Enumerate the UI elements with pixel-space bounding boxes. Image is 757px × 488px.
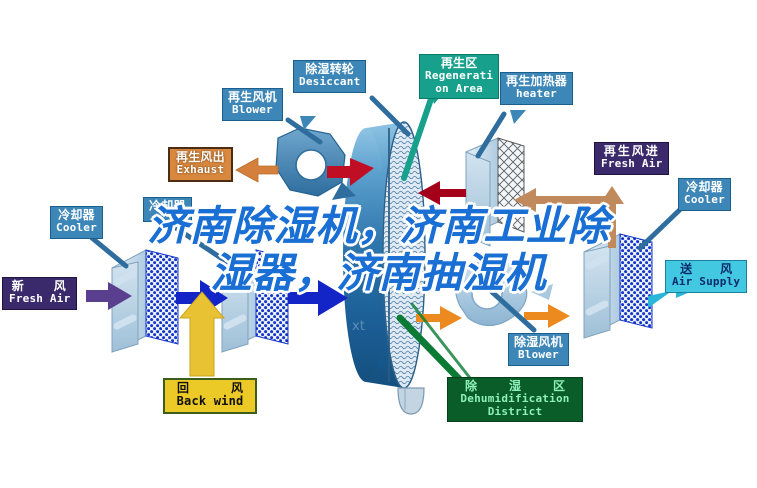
label-dehumid-blower-cn: 除湿风机: [514, 336, 563, 349]
label-dehumid-blower: 除湿风机 Blower: [508, 333, 569, 366]
label-desiccant-wheel-en: Desiccant: [299, 76, 360, 88]
label-cooler-right-en: Cooler: [684, 194, 725, 206]
label-cooler-left-outer-cn: 冷却器: [56, 209, 97, 222]
label-regen-fresh-air: 再生风进 Fresh Air: [594, 142, 669, 175]
label-regeneration-area-en-2: on Area: [425, 83, 493, 95]
label-back-wind-cn: 回 风: [171, 382, 249, 395]
heater-coil: [466, 138, 524, 246]
label-dehumid-district-en-2: District: [455, 406, 575, 418]
label-cooler-right-cn: 冷却器: [684, 181, 725, 194]
label-regen-blower: 再生风机 Blower: [222, 88, 283, 121]
process-arrow: [288, 280, 348, 316]
label-regen-exhaust-en: Exhaust: [176, 164, 225, 176]
label-cooler-left-outer: 冷却器 Cooler: [50, 206, 103, 239]
label-cooler-left-inner: 冷却器: [143, 197, 192, 222]
label-back-wind: 回 风 Back wind: [163, 378, 257, 414]
label-regen-heater-cn: 再生加热器: [506, 75, 567, 88]
label-fresh-air-inlet: 新 风 Fresh Air: [2, 277, 77, 310]
svg-text:xt: xt: [352, 319, 365, 334]
label-cooler-left-outer-en: Cooler: [56, 222, 97, 234]
label-regeneration-area-cn: 再生区: [425, 57, 493, 70]
label-fresh-air-inlet-en: Fresh Air: [9, 293, 70, 305]
regen-wheel-arrow: [418, 181, 466, 205]
label-regen-blower-en: Blower: [228, 104, 277, 116]
diagram-artwork: xt: [0, 0, 757, 488]
label-regen-fresh-air-en: Fresh Air: [601, 158, 662, 170]
label-dehumid-blower-en: Blower: [514, 349, 563, 361]
drain-pan: [398, 388, 424, 414]
label-regen-fresh-air-cn: 再生风进: [601, 145, 662, 158]
label-regen-heater-en: heater: [506, 88, 567, 100]
label-cooler-left-inner-cn: 冷却器: [149, 200, 186, 213]
label-regen-exhaust: 再生风出 Exhaust: [168, 147, 233, 182]
label-dehumidification-district: 除 湿 区 Dehumidification District: [447, 377, 583, 422]
label-air-supply: 送 风 Air Supply: [665, 260, 747, 293]
label-dehumid-district-en-1: Dehumidification: [455, 393, 575, 405]
heater-inlet-arrow: [514, 188, 606, 212]
label-regeneration-area-en-1: Regenerati: [425, 70, 493, 82]
label-cooler-right: 冷却器 Cooler: [678, 178, 731, 211]
label-air-supply-cn: 送 风: [672, 263, 740, 276]
label-back-wind-en: Back wind: [171, 395, 249, 408]
label-dehumid-district-cn: 除 湿 区: [455, 380, 575, 393]
dehumidifier-schematic-diagram: xt: [0, 0, 757, 488]
exhaust-arrow: [236, 158, 278, 182]
label-air-supply-en: Air Supply: [672, 276, 740, 288]
label-regen-heater: 再生加热器 heater: [500, 72, 573, 105]
label-desiccant-wheel: 除湿转轮 Desiccant: [293, 60, 366, 93]
label-desiccant-wheel-cn: 除湿转轮: [299, 63, 360, 76]
label-regeneration-area: 再生区 Regenerati on Area: [419, 54, 499, 99]
label-fresh-air-inlet-cn: 新 风: [9, 280, 70, 293]
label-regen-blower-cn: 再生风机: [228, 91, 277, 104]
